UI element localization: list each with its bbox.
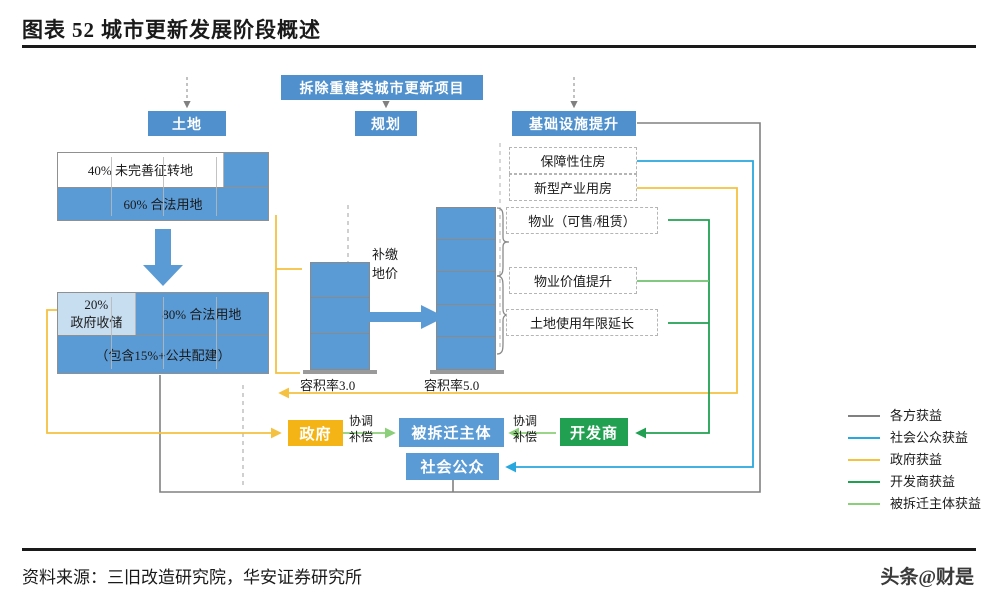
land-cell-gov-reserve: 20% 政府收储 bbox=[58, 293, 136, 335]
connector-dev-line1: 协调 bbox=[513, 413, 537, 429]
legend-swatch-0 bbox=[848, 415, 880, 417]
figure-root: 图表52城市更新发展阶段概述 bbox=[0, 0, 998, 606]
tower5-floor bbox=[437, 337, 495, 369]
tower3-ground bbox=[303, 370, 377, 374]
label-project: 拆除重建类城市更新项目 bbox=[281, 75, 483, 100]
actor-demolished-subject: 被拆迁主体 bbox=[399, 418, 504, 447]
diagram-canvas: 拆除重建类城市更新项目 土地 规划 基础设施提升 40% 未完善征转地 60% … bbox=[0, 55, 998, 545]
benefit-item-3: 物业价值提升 bbox=[509, 267, 637, 294]
supplement-line2: 地价 bbox=[372, 265, 398, 284]
land-block-after: 20% 政府收储 80% 合法用地 （包含15%+公共配建） bbox=[57, 292, 269, 374]
legend-row-1: 社会公众获益 bbox=[848, 427, 998, 449]
tower5-floor bbox=[437, 272, 495, 304]
legend-label-2: 政府获益 bbox=[890, 449, 942, 468]
supplement-land-price-caption: 补缴 地价 bbox=[372, 246, 398, 284]
page-title: 图表52城市更新发展阶段概述 bbox=[22, 14, 321, 44]
gov-reserve-text: 政府收储 bbox=[70, 314, 122, 332]
land-cell-legal-60: 60% 合法用地 bbox=[58, 188, 268, 221]
connector-gov-line2: 补偿 bbox=[349, 429, 373, 445]
figure-label: 图表 bbox=[22, 18, 66, 42]
footer-divider bbox=[22, 548, 976, 551]
legend-label-0: 各方获益 bbox=[890, 405, 942, 424]
land-cell-public-allocation: （包含15%+公共配建） bbox=[58, 336, 268, 373]
label-infrastructure: 基础设施提升 bbox=[512, 111, 636, 136]
legend-row-0: 各方获益 bbox=[848, 405, 998, 427]
legend-swatch-4 bbox=[848, 503, 880, 505]
legend-label-1: 社会公众获益 bbox=[890, 427, 968, 446]
legend-row-4: 被拆迁主体获益 bbox=[848, 493, 998, 515]
tower5-floor bbox=[437, 240, 495, 272]
tower-far-5 bbox=[436, 207, 496, 370]
actor-developer: 开发商 bbox=[560, 418, 628, 446]
tower5-floor bbox=[437, 305, 495, 337]
supplement-line1: 补缴 bbox=[372, 246, 398, 265]
connector-dev-line2: 补偿 bbox=[513, 429, 537, 445]
legend: 各方获益 社会公众获益 政府获益 开发商获益 被拆迁主体获益 bbox=[848, 405, 998, 515]
legend-swatch-2 bbox=[848, 459, 880, 461]
tower5-floor bbox=[437, 208, 495, 240]
figure-number: 52 bbox=[66, 18, 101, 42]
benefit-item-1: 新型产业用房 bbox=[509, 174, 637, 201]
tower3-floor bbox=[311, 334, 369, 369]
legend-label-3: 开发商获益 bbox=[890, 471, 955, 490]
connector-label-gov-subject: 协调 补偿 bbox=[349, 413, 373, 445]
source-note: 资料来源：三旧改造研究院，华安证券研究所 bbox=[22, 563, 362, 588]
actor-government: 政府 bbox=[288, 420, 343, 446]
land-cell-blue-corner bbox=[224, 153, 268, 187]
benefit-item-0: 保障性住房 bbox=[509, 147, 637, 174]
tower3-floor bbox=[311, 263, 369, 298]
legend-swatch-3 bbox=[848, 481, 880, 483]
transform-down-arrow bbox=[142, 229, 184, 287]
legend-label-4: 被拆迁主体获益 bbox=[890, 493, 981, 512]
land-block-before: 40% 未完善征转地 60% 合法用地 bbox=[57, 152, 269, 221]
title-divider bbox=[22, 45, 976, 48]
tower3-floor bbox=[311, 298, 369, 333]
land-cell-uncompleted: 40% 未完善征转地 bbox=[58, 153, 224, 187]
benefit-item-4: 土地使用年限延长 bbox=[506, 309, 658, 336]
legend-row-2: 政府获益 bbox=[848, 449, 998, 471]
benefit-item-2: 物业（可售/租赁） bbox=[506, 207, 658, 234]
label-land: 土地 bbox=[148, 111, 226, 136]
far-upgrade-arrow bbox=[366, 305, 445, 329]
figure-title-text: 城市更新发展阶段概述 bbox=[101, 18, 321, 42]
far-label-after: 容积率5.0 bbox=[424, 375, 479, 394]
label-planning: 规划 bbox=[355, 111, 417, 136]
watermark: 头条@财是 bbox=[880, 562, 974, 589]
connector-gov-line1: 协调 bbox=[349, 413, 373, 429]
tower-far-3 bbox=[310, 262, 370, 370]
connector-label-dev-subject: 协调 补偿 bbox=[513, 413, 537, 445]
land-cell-legal-80: 80% 合法用地 bbox=[136, 293, 268, 335]
tower5-ground bbox=[430, 370, 504, 374]
far-label-before: 容积率3.0 bbox=[300, 375, 355, 394]
gov-reserve-pct: 20% bbox=[84, 296, 108, 314]
legend-swatch-1 bbox=[848, 437, 880, 439]
actor-public: 社会公众 bbox=[406, 453, 499, 480]
legend-row-3: 开发商获益 bbox=[848, 471, 998, 493]
